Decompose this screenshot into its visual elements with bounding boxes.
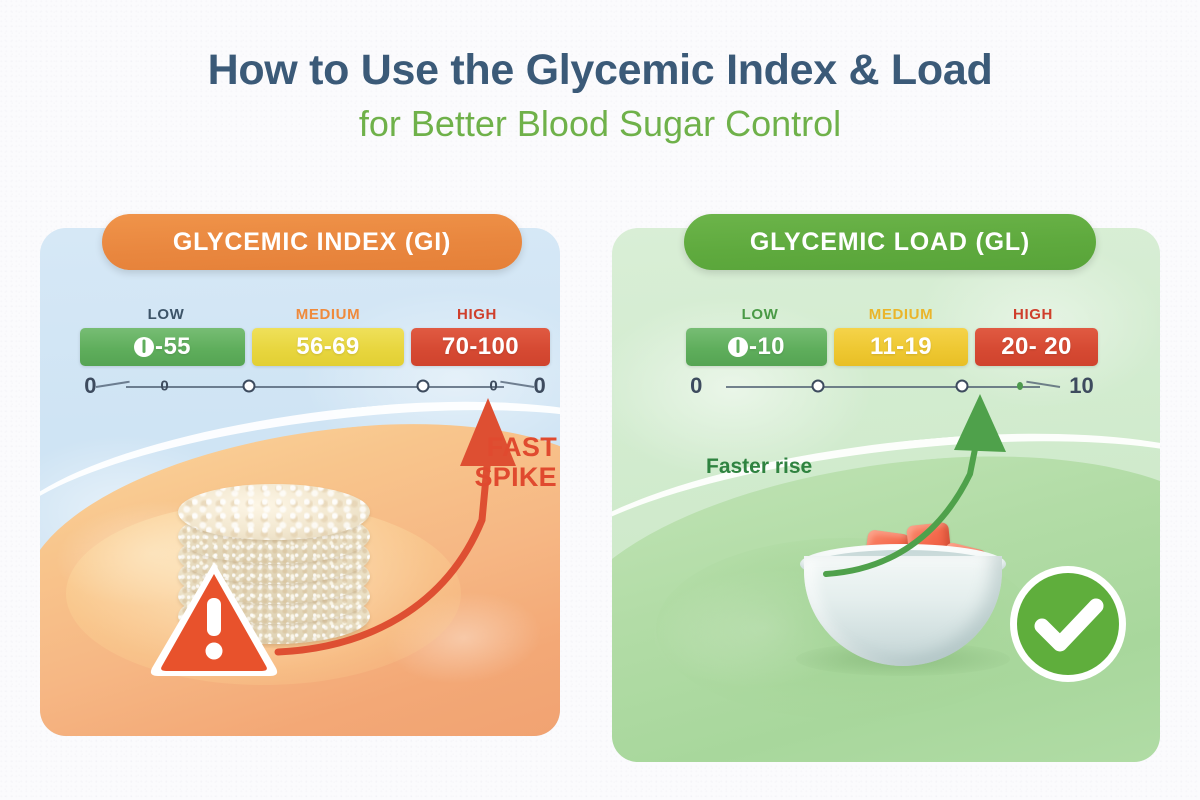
gi-axis-line-left	[96, 381, 130, 388]
gi-scale: LOW MEDIUM HIGH -55 56-69 70-100 0 0 0 0	[80, 306, 550, 399]
gi-range-high: 70-100	[442, 333, 519, 361]
gi-label-medium: MEDIUM	[252, 306, 404, 328]
gl-bar-low[interactable]: -10	[686, 328, 827, 366]
faster-rise-annotation: Faster rise	[706, 455, 812, 479]
gi-tick-ring	[243, 380, 256, 393]
gl-range-medium: 11-19	[870, 333, 932, 361]
gi-label-high: HIGH	[404, 306, 550, 328]
gl-tick-ring	[811, 380, 824, 393]
info-circle-icon	[728, 337, 748, 357]
badge-glycemic-index[interactable]: GLYCEMIC INDEX (GI)	[102, 214, 522, 270]
gl-tick-end: 10	[1069, 375, 1093, 397]
gi-tick-start: 0	[84, 375, 96, 397]
gi-axis: 0 0 0 0	[80, 373, 550, 399]
fast-spike-line-2: SPIKE	[474, 462, 557, 492]
gi-tick: 0	[160, 379, 168, 394]
fast-spike-line-1: FAST	[487, 432, 557, 462]
gi-bar-medium[interactable]: 56-69	[252, 328, 404, 366]
check-circle-icon	[1008, 564, 1128, 684]
gi-range-medium: 56-69	[296, 333, 359, 361]
gi-tick-end: 0	[534, 375, 546, 397]
gl-label-medium: MEDIUM	[834, 306, 968, 328]
gl-axis: 0 10	[686, 373, 1098, 399]
gi-label-low: LOW	[80, 306, 252, 328]
gi-tick: 0	[489, 379, 497, 394]
gl-label-high: HIGH	[968, 306, 1098, 328]
badge-glycemic-load[interactable]: GLYCEMIC LOAD (GL)	[684, 214, 1096, 270]
gl-bar-medium[interactable]: 11-19	[834, 328, 968, 366]
page-subtitle: for Better Blood Sugar Control	[0, 104, 1200, 144]
gl-bar-high[interactable]: 20- 20	[975, 328, 1098, 366]
info-circle-icon	[134, 337, 154, 357]
gi-axis-line-right	[500, 381, 534, 388]
gi-range-low: -55	[155, 333, 191, 361]
gl-tick-ring	[956, 380, 969, 393]
gl-tick-dot	[1017, 382, 1023, 390]
fast-spike-annotation: FAST SPIKE	[437, 432, 557, 492]
header: How to Use the Glycemic Index & Load for…	[0, 47, 1200, 144]
gi-bar-low[interactable]: -55	[80, 328, 245, 366]
gi-axis-line	[126, 386, 504, 388]
gl-range-high: 20- 20	[1001, 333, 1071, 361]
warning-triangle-icon	[148, 556, 280, 678]
gl-axis-line	[726, 386, 1040, 388]
gi-segment-labels: LOW MEDIUM HIGH	[80, 306, 550, 328]
gl-segment-bars: -10 11-19 20- 20	[686, 328, 1098, 366]
gi-bar-high[interactable]: 70-100	[411, 328, 550, 366]
gl-tick-start: 0	[690, 375, 702, 397]
page-title: How to Use the Glycemic Index & Load	[0, 47, 1200, 93]
gi-tick-ring	[417, 380, 430, 393]
gl-label-low: LOW	[686, 306, 834, 328]
gl-scale: LOW MEDIUM HIGH -10 11-19 20- 20 0 10	[686, 306, 1098, 399]
gl-range-low: -10	[749, 333, 785, 361]
gi-segment-bars: -55 56-69 70-100	[80, 328, 550, 366]
watermelon-bowl-illustration	[790, 492, 1016, 682]
gl-segment-labels: LOW MEDIUM HIGH	[686, 306, 1098, 328]
rice-cake-top	[178, 484, 370, 540]
